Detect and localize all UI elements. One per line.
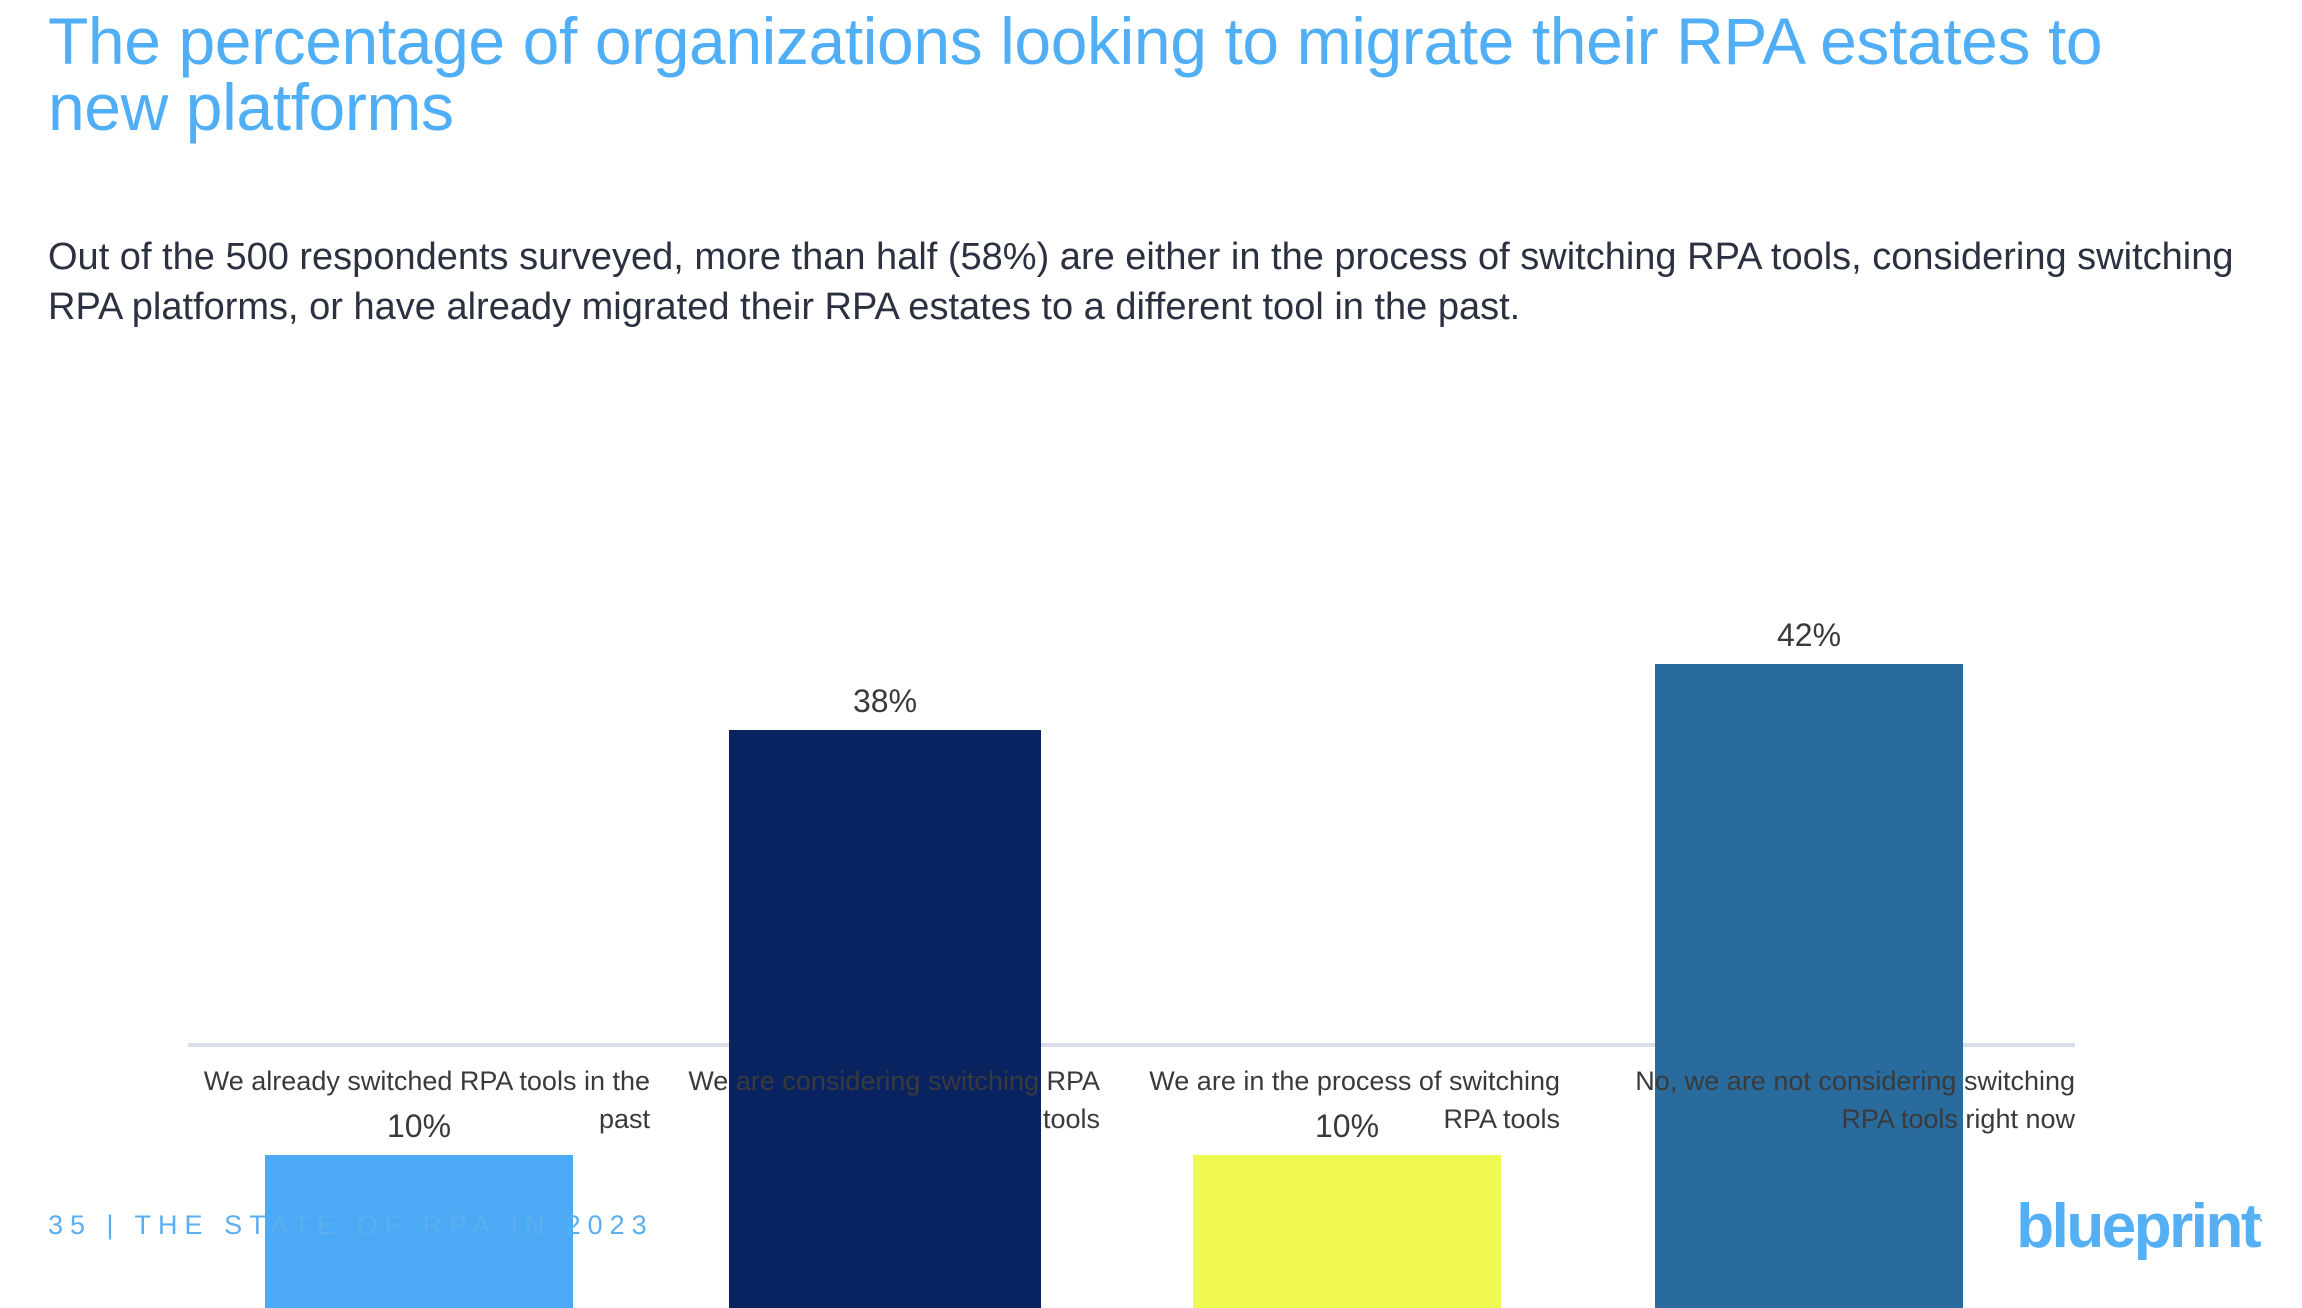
- bar-group: 10%: [1193, 265, 1501, 1308]
- bar-chart: 10% 38% 10% 42% We already switched RPA …: [0, 0, 2302, 1308]
- registered-mark-icon: ·: [2259, 1212, 2264, 1229]
- category-label: We already switched RPA tools in the pas…: [185, 1062, 650, 1139]
- footer-page-note: 35 | THE STATE OF RPA IN 2023: [48, 1210, 654, 1241]
- logo-wordmark: blueprint: [2016, 1192, 2259, 1261]
- bar-group: 38%: [729, 265, 1041, 1308]
- slide-root: The percentage of organizations looking …: [0, 0, 2302, 1308]
- bar-rect[interactable]: [1655, 664, 1963, 1308]
- bar-group: 10%: [265, 265, 573, 1308]
- blueprint-logo: blueprint·: [2016, 1196, 2264, 1258]
- bar-value-label: 42%: [1777, 619, 1841, 651]
- bar-value-label: 38%: [853, 685, 917, 717]
- category-label: We are in the process of switching RPA t…: [1125, 1062, 1560, 1139]
- bar-rect[interactable]: [729, 730, 1041, 1308]
- category-label: No, we are not considering switching RPA…: [1575, 1062, 2075, 1139]
- bar-group: 42%: [1655, 265, 1963, 1308]
- category-label: We are considering switching RPA tools: [655, 1062, 1100, 1139]
- bar-rect[interactable]: [1193, 1155, 1501, 1308]
